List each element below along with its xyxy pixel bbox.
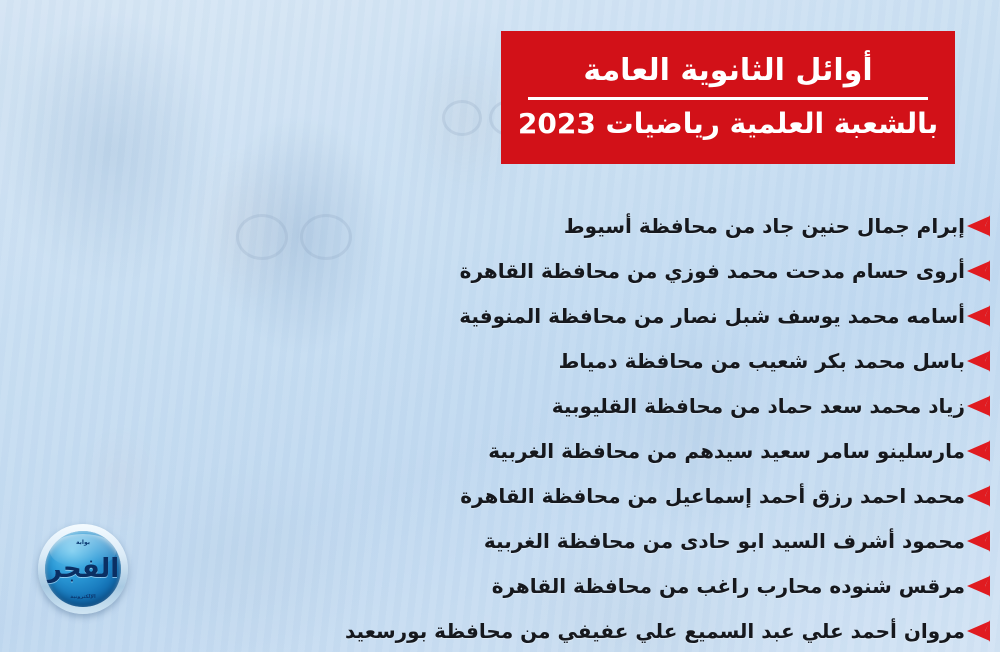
winners-list: إبرام جمال حنين جاد من محافظة أسيوط أروى…	[0, 203, 1000, 652]
arrow-left-bullet-icon	[965, 529, 991, 553]
arrow-left-bullet-icon	[965, 574, 991, 598]
list-item: مارسلينو سامر سعيد سيدهم من محافظة الغرب…	[10, 428, 1000, 473]
banner-title-secondary: بالشعبة العلمية رياضيات 2023	[518, 108, 938, 139]
arrow-left-bullet-icon	[965, 619, 991, 643]
list-item-label: أروى حسام مدحت محمد فوزي من محافظة القاه…	[460, 259, 965, 283]
list-item: أسامه محمد يوسف شبل نصار من محافظة المنو…	[10, 293, 1000, 338]
list-item-label: محمد احمد رزق أحمد إسماعيل من محافظة الق…	[460, 484, 965, 508]
list-item: مروان أحمد علي عبد السميع علي عفيفي من م…	[10, 608, 1000, 652]
list-item-label: مارسلينو سامر سعيد سيدهم من محافظة الغرب…	[488, 439, 965, 463]
poster-canvas: أوائل الثانوية العامة بالشعبة العلمية ري…	[0, 0, 1000, 652]
al-fagr-logo: بوابة الفجر الإلكترونية	[38, 524, 128, 614]
list-item-label: مروان أحمد علي عبد السميع علي عفيفي من م…	[345, 619, 965, 643]
arrow-left-bullet-icon	[965, 394, 991, 418]
list-item-label: أسامه محمد يوسف شبل نصار من محافظة المنو…	[459, 304, 965, 328]
list-item: أروى حسام مدحت محمد فوزي من محافظة القاه…	[10, 248, 1000, 293]
banner-divider	[528, 97, 928, 100]
logo-bottom-label: الإلكترونية	[45, 594, 121, 600]
arrow-left-bullet-icon	[965, 259, 991, 283]
logo-inner-disc: بوابة الفجر الإلكترونية	[45, 531, 121, 607]
list-item: محمد احمد رزق أحمد إسماعيل من محافظة الق…	[10, 473, 1000, 518]
list-item: زياد محمد سعد حماد من محافظة القليوبية	[10, 383, 1000, 428]
arrow-left-bullet-icon	[965, 214, 991, 238]
list-item-label: إبرام جمال حنين جاد من محافظة أسيوط	[564, 214, 965, 238]
arrow-left-bullet-icon	[965, 484, 991, 508]
arrow-left-bullet-icon	[965, 439, 991, 463]
list-item-label: مرقس شنوده محارب راغب من محافظة القاهرة	[492, 574, 965, 598]
list-item: مرقس شنوده محارب راغب من محافظة القاهرة	[10, 563, 1000, 608]
list-item-label: محمود أشرف السيد ابو حادى من محافظة الغر…	[484, 529, 965, 553]
list-item: إبرام جمال حنين جاد من محافظة أسيوط	[10, 203, 1000, 248]
title-banner: أوائل الثانوية العامة بالشعبة العلمية ري…	[501, 31, 955, 164]
banner-title-primary: أوائل الثانوية العامة	[583, 54, 872, 88]
list-item-label: باسل محمد بكر شعيب من محافظة دمياط	[559, 349, 965, 373]
logo-wordmark: الفجر	[47, 556, 119, 582]
list-item: محمود أشرف السيد ابو حادى من محافظة الغر…	[10, 518, 1000, 563]
arrow-left-bullet-icon	[965, 304, 991, 328]
arrow-left-bullet-icon	[965, 349, 991, 373]
list-item: باسل محمد بكر شعيب من محافظة دمياط	[10, 338, 1000, 383]
list-item-label: زياد محمد سعد حماد من محافظة القليوبية	[552, 394, 965, 418]
logo-top-label: بوابة	[45, 539, 121, 546]
